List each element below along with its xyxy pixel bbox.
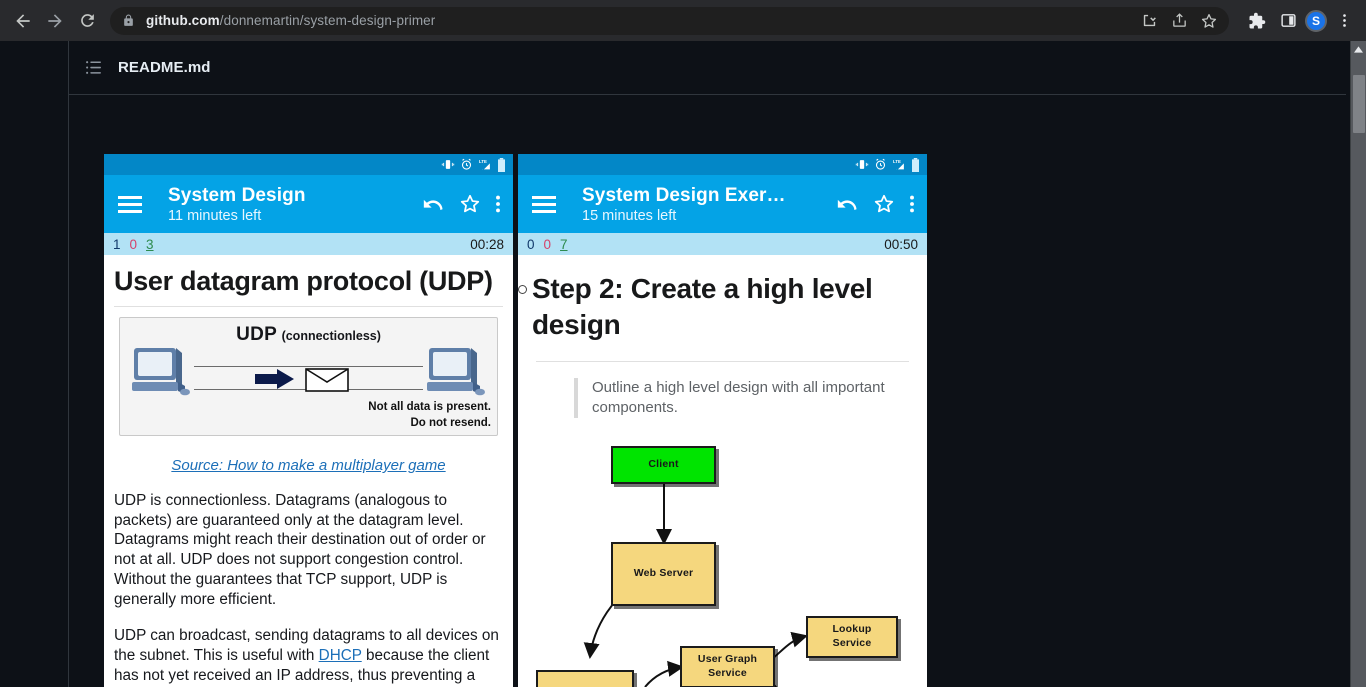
url-path: /donnemartin/system-design-primer — [220, 13, 436, 28]
star-icon[interactable] — [873, 193, 895, 215]
battery-icon — [497, 158, 506, 172]
step2-blockquote: Outline a high level design with all imp… — [574, 378, 917, 418]
computer-right-icon — [425, 346, 487, 398]
data-flow-arrow-icon — [255, 368, 295, 390]
lock-icon — [122, 14, 135, 27]
udp-diagram: UDP (connectionless) — [119, 317, 498, 436]
android-status-bar-left: LTE — [104, 154, 513, 175]
heading-divider — [114, 306, 503, 307]
counter-red-left: 0 — [130, 237, 138, 252]
install-app-icon[interactable] — [1135, 7, 1163, 35]
timer-left: 00:28 — [470, 237, 504, 252]
url-domain: github.com — [146, 13, 220, 28]
share-icon[interactable] — [1165, 7, 1193, 35]
url-text: github.com/donnemartin/system-design-pri… — [146, 13, 435, 28]
scroll-up-arrow-icon[interactable] — [1351, 41, 1366, 57]
readme-header: README.md — [69, 41, 1346, 95]
navigation-buttons — [8, 6, 102, 36]
android-status-bar-right: LTE — [518, 154, 927, 175]
udp-diagram-title: UDP (connectionless) — [120, 318, 497, 346]
lte-signal-icon: LTE — [478, 158, 492, 171]
toolbar-right-actions: S — [1239, 7, 1358, 35]
reload-button[interactable] — [72, 6, 102, 36]
diagram-node-web-server: Web Server — [611, 542, 716, 606]
app-subtitle-right: 15 minutes left — [582, 208, 823, 224]
battery-icon — [911, 158, 920, 172]
outline-list-icon[interactable] — [85, 59, 102, 76]
udp-note-line1: Not all data is present. — [368, 400, 491, 416]
svg-text:LTE: LTE — [893, 159, 901, 164]
alarm-clock-icon — [460, 158, 473, 171]
app-bar-left: System Design 11 minutes left — [104, 175, 513, 233]
udp-note-line2: Do not resend. — [368, 416, 491, 432]
app-actions-right — [835, 193, 917, 215]
overflow-menu-icon[interactable] — [909, 193, 915, 215]
alarm-clock-icon — [874, 158, 887, 171]
vibrate-icon — [441, 158, 455, 171]
scrollbar-thumb[interactable] — [1353, 75, 1365, 133]
extensions-puzzle-icon[interactable] — [1243, 7, 1271, 35]
app-title-right: System Design Exer… — [582, 185, 823, 207]
counter-bar-left: 1 0 3 00:28 — [104, 233, 513, 255]
timer-right: 00:50 — [884, 237, 918, 252]
heading-anchor-link-icon[interactable] — [518, 285, 527, 294]
counter-blue-right: 0 — [527, 237, 535, 252]
counters-left: 1 0 3 — [113, 237, 154, 252]
back-button[interactable] — [8, 6, 38, 36]
udp-diagram-note: Not all data is present. Do not resend. — [368, 400, 491, 431]
heading-divider — [536, 361, 909, 362]
lte-signal-icon: LTE — [892, 158, 906, 171]
phone-content-right: Step 2: Create a high level design Outli… — [518, 255, 927, 687]
page-title: README.md — [118, 59, 211, 76]
overflow-menu-icon[interactable] — [495, 193, 501, 215]
github-content-frame: README.md LTE System Design — [68, 41, 1346, 687]
profile-avatar[interactable]: S — [1305, 10, 1327, 32]
page-area: README.md LTE System Design — [0, 41, 1366, 687]
phone-screenshot-left: LTE System Design 11 minutes left — [104, 154, 513, 687]
diagram-node-client: Client — [611, 446, 716, 484]
app-title-left: System Design — [168, 185, 409, 207]
dhcp-link[interactable]: DHCP — [319, 647, 362, 664]
source-link[interactable]: Source: How to make a multiplayer game — [114, 457, 503, 474]
hamburger-menu-icon[interactable] — [118, 196, 142, 213]
counter-red-right: 0 — [544, 237, 552, 252]
phone-screenshot-right: LTE System Design Exer… 15 minutes left — [518, 154, 927, 687]
vibrate-icon — [855, 158, 869, 171]
phone-content-left: User datagram protocol (UDP) UDP (connec… — [104, 255, 513, 687]
diagram-node-search-api: Search API — [536, 670, 634, 687]
undo-icon[interactable] — [835, 193, 859, 215]
svg-text:LTE: LTE — [479, 159, 487, 164]
browser-toolbar: github.com/donnemartin/system-design-pri… — [0, 0, 1366, 41]
phone-screenshots: LTE System Design 11 minutes left — [104, 154, 927, 687]
hamburger-menu-icon[interactable] — [532, 196, 556, 213]
app-titles-right: System Design Exer… 15 minutes left — [568, 185, 823, 224]
forward-arrow-icon — [45, 11, 65, 31]
udp-paragraph-2: UDP can broadcast, sending datagrams to … — [114, 626, 503, 687]
udp-diagram-title-main: UDP — [236, 324, 277, 345]
star-icon[interactable] — [459, 193, 481, 215]
computer-left-icon — [130, 346, 192, 398]
undo-icon[interactable] — [421, 193, 445, 215]
counter-green-right[interactable]: 7 — [560, 237, 568, 252]
page-scrollbar[interactable] — [1350, 41, 1366, 687]
omnibox-actions — [1135, 7, 1223, 35]
app-bar-right: System Design Exer… 15 minutes left — [518, 175, 927, 233]
app-subtitle-left: 11 minutes left — [168, 208, 409, 224]
counter-bar-right: 0 0 7 00:50 — [518, 233, 927, 255]
app-actions-left — [421, 193, 503, 215]
udp-paragraph-1: UDP is connectionless. Datagrams (analog… — [114, 491, 503, 609]
reload-icon — [78, 11, 97, 30]
udp-diagram-title-sub: (connectionless) — [282, 329, 381, 343]
counter-green-left[interactable]: 3 — [146, 237, 154, 252]
envelope-icon — [305, 368, 349, 392]
diagram-node-lookup-service: Lookup Service — [806, 616, 898, 658]
three-dot-menu-icon[interactable] — [1330, 7, 1358, 35]
architecture-diagram: Client Web Server Search API User Graph … — [528, 438, 917, 687]
scrollbar-track[interactable] — [1351, 57, 1366, 687]
bookmark-star-icon[interactable] — [1195, 7, 1223, 35]
step2-heading: Step 2: Create a high level design — [528, 255, 917, 355]
back-arrow-icon — [13, 11, 33, 31]
counter-blue-left: 1 — [113, 237, 121, 252]
forward-button[interactable] — [40, 6, 70, 36]
diagram-node-user-graph-service: User Graph Service — [680, 646, 775, 687]
app-titles-left: System Design 11 minutes left — [154, 185, 409, 224]
counters-right: 0 0 7 — [527, 237, 568, 252]
address-bar[interactable]: github.com/donnemartin/system-design-pri… — [110, 7, 1229, 35]
udp-heading: User datagram protocol (UDP) — [114, 255, 503, 306]
side-panel-icon[interactable] — [1274, 7, 1302, 35]
readme-body: LTE System Design 11 minutes left — [69, 95, 1346, 687]
